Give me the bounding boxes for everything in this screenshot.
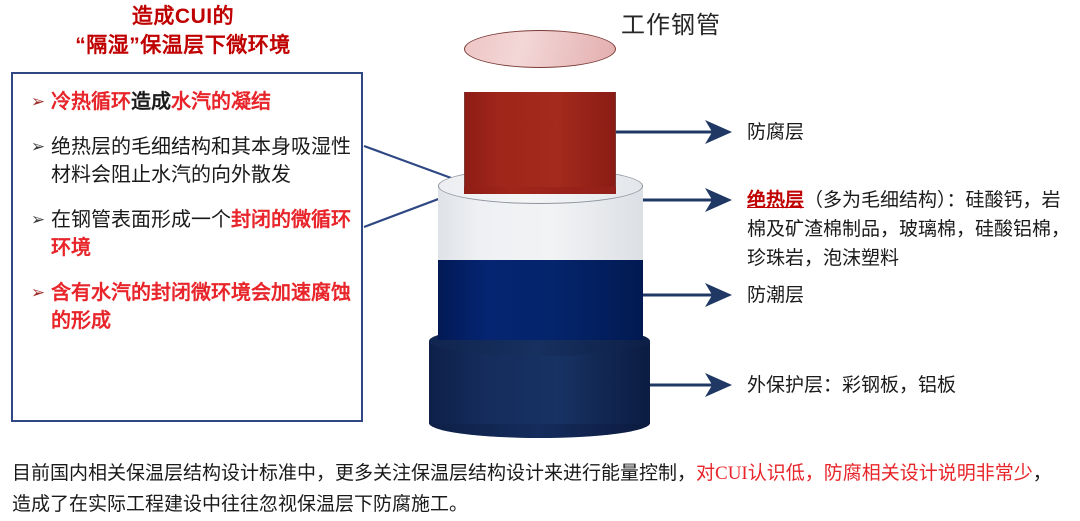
outer-protective-layer-cylinder bbox=[429, 326, 650, 438]
callout-box: ➢ 冷热循环造成水汽的凝结 ➢ 绝热层的毛细结构和其本身吸湿性材料会阻止水汽的向… bbox=[11, 72, 363, 422]
bullet-arrow-icon: ➢ bbox=[25, 279, 51, 307]
label-moisture-barrier-layer: 防潮层 bbox=[747, 281, 804, 310]
page-title: 工作钢管 bbox=[621, 5, 721, 40]
callout-bullet-3: ➢ 在钢管表面形成一个封闭的微循环环境 bbox=[25, 206, 351, 262]
bullet-3-part-1: 在钢管表面形成一个 bbox=[51, 209, 231, 231]
bullet-arrow-icon: ➢ bbox=[25, 206, 51, 234]
callout-bullet-2: ➢ 绝热层的毛细结构和其本身吸湿性材料会阻止水汽的向外散发 bbox=[25, 133, 351, 189]
bullet-arrow-icon: ➢ bbox=[25, 88, 51, 116]
insulation-layer-name: 绝热层 bbox=[747, 190, 804, 211]
bullet-arrow-icon: ➢ bbox=[25, 133, 51, 161]
headline-line-2: “隔湿”保温层下微环境 bbox=[8, 31, 358, 60]
callout-bullet-4: ➢ 含有水汽的封闭微环境会加速腐蚀的形成 bbox=[25, 279, 351, 335]
vapor-barrier-body bbox=[438, 258, 643, 340]
label-insulation-layer: 绝热层（多为毛细结构）：硅酸钙，岩棉及矿渣棉制品，玻璃棉，硅酸铝棉，珍珠岩，泡沫… bbox=[747, 186, 1072, 273]
headline-line-1: 造成CUI的 bbox=[8, 2, 358, 31]
footer-part-1: 目前国内相关保温层结构设计标准中，更多关注保温层结构设计来进行能量控制， bbox=[12, 463, 696, 484]
footer-paragraph: 目前国内相关保温层结构设计标准中，更多关注保温层结构设计来进行能量控制，对CUI… bbox=[12, 458, 1070, 520]
bullet-1-part-2: 造成 bbox=[131, 91, 171, 113]
callout-bullet-3-text: 在钢管表面形成一个封闭的微循环环境 bbox=[51, 206, 351, 262]
slide-canvas: 造成CUI的 “隔湿”保温层下微环境 ➢ 冷热循环造成水汽的凝结 ➢ 绝热层的毛… bbox=[0, 0, 1080, 521]
callout-bullet-1: ➢ 冷热循环造成水汽的凝结 bbox=[25, 88, 351, 116]
bullet-1-part-1: 冷热循环 bbox=[51, 91, 131, 113]
steel-pipe-shoulder bbox=[464, 92, 616, 187]
bullet-1-part-3: 水汽的凝结 bbox=[171, 91, 271, 113]
label-outer-protective-layer: 外保护层：彩钢板，铝板 bbox=[747, 371, 956, 400]
callout-bullet-1-text: 冷热循环造成水汽的凝结 bbox=[51, 88, 351, 116]
steel-pipe-top-cap bbox=[464, 30, 616, 68]
headline: 造成CUI的 “隔湿”保温层下微环境 bbox=[8, 2, 358, 60]
footer-red-emphasis: 对CUI认识低，防腐相关设计说明非常少 bbox=[696, 463, 1033, 484]
label-anticorrosion-layer: 防腐层 bbox=[747, 118, 804, 147]
callout-bullet-2-text: 绝热层的毛细结构和其本身吸湿性材料会阻止水汽的向外散发 bbox=[51, 133, 351, 189]
callout-bullet-4-text: 含有水汽的封闭微环境会加速腐蚀的形成 bbox=[51, 279, 351, 335]
working-steel-pipe-cylinder bbox=[464, 30, 616, 190]
